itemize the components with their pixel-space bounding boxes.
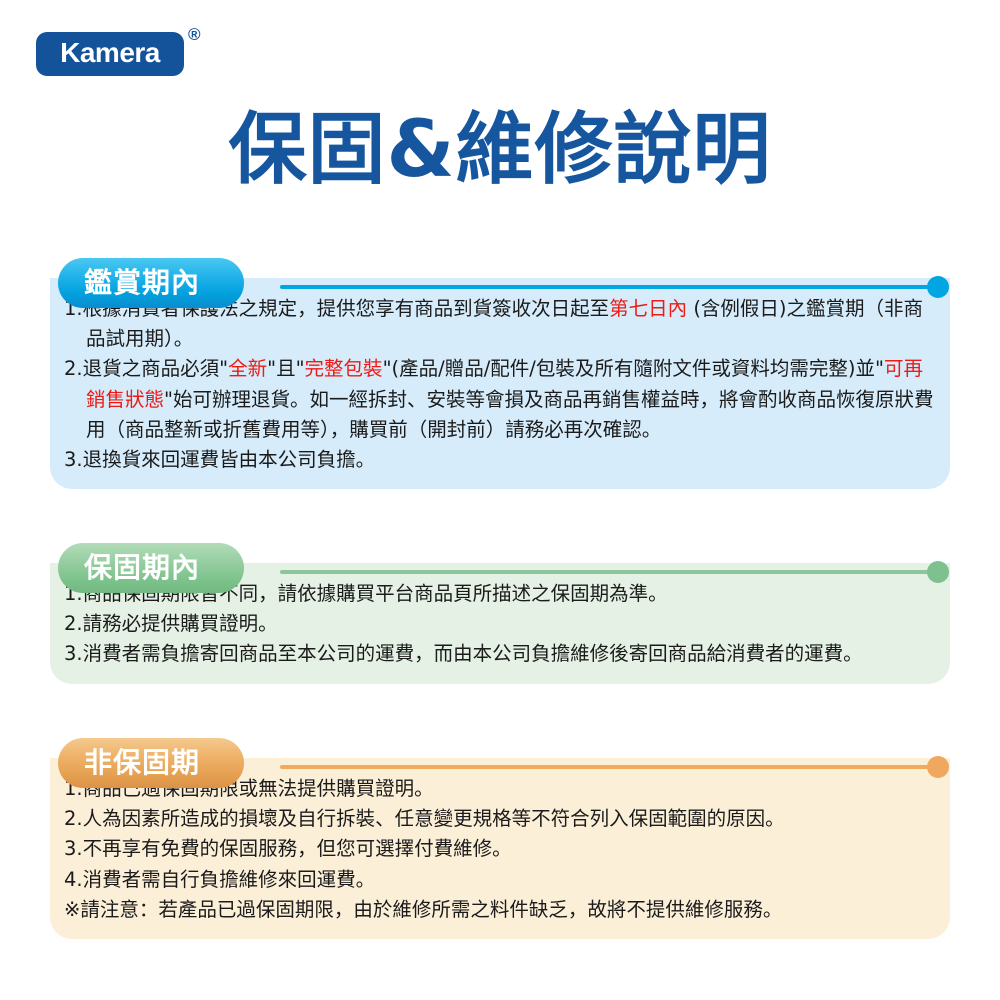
highlighted-text: 全新 [228, 357, 267, 380]
body-text: 4.消費者需自行負擔維修來回運費。 [64, 868, 375, 891]
body-text: 3.不再享有免費的保固服務，但您可選擇付費維修。 [64, 837, 512, 860]
list-item: 3.退換貨來回運費皆由本公司負擔。 [64, 445, 936, 475]
section-rule [280, 765, 935, 769]
section-end-dot-icon [927, 561, 949, 583]
body-text: "始可辦理退貨。如一經拆封、安裝等會損及商品再銷售權益時，將會酌收商品恢復原狀費… [86, 388, 934, 441]
list-item: 4.消費者需自行負擔維修來回運費。 [64, 865, 936, 895]
section-badge: 保固期內 [58, 543, 244, 593]
section-panel: 1.根據消費者保護法之規定，提供您享有商品到貨簽收次日起至第七日內 (含例假日)… [50, 278, 950, 489]
warranty-info-page: Kamera ® 保固&維修說明 1.根據消費者保護法之規定，提供您享有商品到貨… [0, 0, 1000, 1000]
section-badge-label: 保固期內 [84, 554, 200, 582]
section-body: 1.根據消費者保護法之規定，提供您享有商品到貨簽收次日起至第七日內 (含例假日)… [50, 278, 950, 489]
body-text: "且" [267, 357, 304, 380]
brand-logo: Kamera ® [36, 20, 256, 82]
section-badge: 鑑賞期內 [58, 258, 244, 308]
section-rule [280, 570, 935, 574]
body-text: ※請注意：若產品已過保固期限，由於維修所需之料件缺乏，故將不提供維修服務。 [64, 898, 782, 921]
highlighted-text: 完整包裝 [305, 357, 383, 380]
highlighted-text: 第七日內 [609, 297, 687, 320]
list-item: 2.退貨之商品必須"全新"且"完整包裝"(產品/贈品/配件/包裝及所有隨附文件或… [64, 354, 936, 445]
body-text: 3.消費者需負擔寄回商品至本公司的運費，而由本公司負擔維修後寄回商品給消費者的運… [64, 642, 863, 665]
section-badge-label: 鑑賞期內 [84, 269, 200, 297]
list-item: 3.不再享有免費的保固服務，但您可選擇付費維修。 [64, 834, 936, 864]
list-item: ※請注意：若產品已過保固期限，由於維修所需之料件缺乏，故將不提供維修服務。 [64, 895, 936, 925]
body-text: "(產品/贈品/配件/包裝及所有隨附文件或資料均需完整)並" [383, 357, 884, 380]
section-end-dot-icon [927, 276, 949, 298]
body-text: 3.退換貨來回運費皆由本公司負擔。 [64, 448, 375, 471]
body-text: 2.請務必提供購買證明。 [64, 612, 278, 635]
registered-trademark-icon: ® [188, 26, 201, 43]
list-item: 2.人為因素所造成的損壞及自行拆裝、任意變更規格等不符合列入保固範圍的原因。 [64, 804, 936, 834]
section-badge: 非保固期 [58, 738, 244, 788]
page-title: 保固&維修說明 [0, 108, 1000, 194]
section-badge-label: 非保固期 [84, 749, 200, 777]
list-item: 2.請務必提供購買證明。 [64, 609, 936, 639]
logo-wordmark: Kamera [60, 39, 160, 67]
logo-badge: Kamera [36, 32, 184, 76]
section-rule [280, 285, 935, 289]
body-text: 2.退貨之商品必須" [64, 357, 228, 380]
section-end-dot-icon [927, 756, 949, 778]
body-text: 2.人為因素所造成的損壞及自行拆裝、任意變更規格等不符合列入保固範圍的原因。 [64, 807, 785, 830]
list-item: 3.消費者需負擔寄回商品至本公司的運費，而由本公司負擔維修後寄回商品給消費者的運… [64, 639, 936, 669]
